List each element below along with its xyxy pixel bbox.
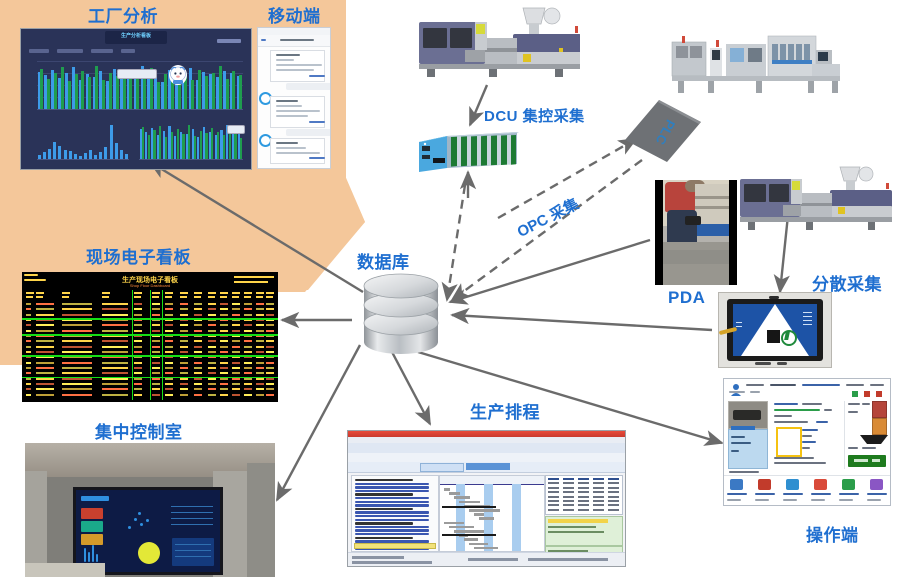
assembly-line-machine — [668, 30, 842, 98]
kanban-cell — [134, 372, 142, 374]
sched-combo-1[interactable] — [420, 463, 464, 472]
bar-实际-29 — [232, 71, 235, 109]
sched-grid-cell — [593, 509, 604, 511]
opterm-logo-icon — [729, 383, 743, 397]
sched-grid-cell — [563, 491, 574, 493]
mobile-client-screenshot[interactable] — [257, 27, 331, 169]
kanban-cell — [102, 383, 128, 385]
sched-selected-row[interactable] — [354, 543, 436, 549]
kanban-col-header — [244, 296, 251, 298]
kanban-col-header — [165, 296, 172, 298]
dcu-device-photo — [413, 128, 525, 176]
dashboard-menu-4[interactable] — [121, 49, 135, 53]
kanban-cell — [62, 362, 92, 364]
sched-gantt-bar[interactable] — [454, 496, 470, 499]
kanban-cell — [208, 308, 216, 310]
kanban-cell — [208, 346, 216, 348]
message-card-1[interactable] — [270, 50, 325, 82]
kanban-cell — [180, 372, 188, 374]
kanban-cell — [256, 340, 264, 342]
kanban-cell — [152, 394, 160, 396]
kanban-cell — [36, 351, 54, 353]
kanban-cell — [152, 388, 160, 390]
kanban-col-header — [208, 296, 215, 298]
kanban-cell — [102, 351, 128, 353]
kanban-cell — [220, 330, 228, 332]
kanban-grid-vline — [132, 290, 133, 400]
sched-task-row[interactable] — [355, 483, 429, 485]
kanban-cell — [165, 314, 173, 316]
sched-grid-cell — [593, 500, 604, 502]
kanban-cell — [26, 383, 31, 385]
kanban-cell — [26, 324, 31, 326]
kanban-cell — [26, 330, 31, 332]
sub-bar-r-10-实际 — [200, 131, 202, 159]
sched-grid-cell — [578, 478, 589, 480]
kanban-subtitle: Shop Floor Dashboard — [130, 283, 170, 288]
sched-grid-cell — [593, 491, 604, 493]
injection-molding-machine-top — [405, 4, 580, 86]
kanban-cell — [152, 314, 160, 316]
kanban-cell — [232, 324, 240, 326]
kanban-cell — [152, 330, 160, 332]
sched-task-row[interactable] — [355, 508, 413, 510]
kanban-col-header — [152, 296, 159, 298]
phone-nav-title — [280, 39, 314, 41]
kanban-cell — [102, 303, 128, 305]
sub-bar-k — [89, 150, 92, 159]
sched-grid-cell — [593, 504, 604, 506]
sched-grid-cell — [578, 491, 589, 493]
kanban-grid-vline — [162, 290, 163, 400]
sched-task-row[interactable] — [355, 501, 429, 503]
kanban-cell — [152, 372, 160, 374]
kanban-col-header — [26, 296, 33, 298]
kanban-cell — [36, 303, 54, 305]
kanban-cell — [134, 351, 142, 353]
kanban-cell — [244, 324, 252, 326]
kanban-cell — [266, 367, 274, 369]
kanban-cell — [62, 394, 92, 396]
kanban-cell — [165, 330, 173, 332]
kanban-cell — [244, 372, 252, 374]
kanban-cell — [208, 388, 216, 390]
sched-gantt-bar[interactable] — [474, 513, 484, 516]
kanban-cell — [165, 367, 173, 369]
sched-status-bar — [348, 552, 625, 566]
sched-task-row[interactable] — [355, 479, 413, 481]
kanban-cell — [220, 383, 228, 385]
kanban-cell — [36, 314, 54, 316]
kanban-cell — [220, 303, 228, 305]
kanban-cell — [194, 324, 202, 326]
kanban-corner-text — [24, 274, 38, 276]
kanban-col-header — [266, 292, 274, 294]
kanban-cell — [36, 340, 54, 342]
label-operation-terminal: 操作端 — [806, 521, 859, 546]
kanban-cell — [266, 394, 274, 396]
sub-bar-b — [43, 152, 46, 159]
sched-grid-cell — [563, 478, 574, 480]
kanban-col-header — [36, 292, 44, 294]
sched-task-row[interactable] — [355, 522, 413, 524]
sched-task-row[interactable] — [355, 504, 429, 506]
kanban-cell — [180, 388, 188, 390]
dashboard-menu-1[interactable] — [29, 49, 49, 53]
sched-task-row[interactable] — [355, 486, 429, 488]
bar-实际-3 — [54, 73, 57, 109]
bar-实际-2 — [47, 79, 50, 109]
phone-nav-bar — [258, 35, 330, 47]
database-cylinder-icon[interactable] — [358, 272, 444, 356]
kanban-cell — [194, 340, 202, 342]
sched-gantt-band — [512, 484, 521, 551]
kanban-cell — [165, 346, 173, 348]
kanban-cell — [102, 308, 128, 310]
dashboard-menu-2[interactable] — [57, 49, 83, 53]
sub-bar-n — [104, 147, 107, 159]
sched-task-row[interactable] — [355, 537, 413, 539]
opterm-detail-panel — [772, 401, 845, 469]
kanban-cell — [62, 314, 92, 316]
kanban-grid-hline — [22, 334, 278, 336]
kanban-cell — [180, 394, 188, 396]
sub-bar-r-1-实际 — [148, 135, 150, 159]
kanban-cell — [194, 388, 202, 390]
kanban-cell — [62, 388, 92, 390]
sched-task-list[interactable] — [351, 475, 439, 552]
kanban-cell — [26, 308, 31, 310]
sched-task-row[interactable] — [355, 497, 429, 499]
sched-detail-grid[interactable] — [545, 475, 623, 515]
sub-bar-q — [120, 150, 123, 159]
dashboard-sub-chart-left — [37, 121, 129, 159]
bar-实际-10 — [102, 80, 105, 109]
kanban-col-header — [165, 292, 173, 294]
factory-analysis-dashboard[interactable]: 生产分析看板 — [20, 28, 252, 170]
dashboard-user[interactable] — [217, 39, 241, 43]
sched-gantt-bar[interactable] — [454, 530, 484, 533]
kanban-cell — [208, 303, 216, 305]
sched-gantt-bar[interactable] — [459, 501, 480, 504]
sched-grid-cell — [548, 504, 559, 506]
sched-grid-cell — [563, 509, 574, 511]
kanban-cell — [134, 303, 142, 305]
kanban-cell — [36, 346, 54, 348]
kanban-cell — [256, 314, 264, 316]
kanban-cell — [244, 394, 252, 396]
kanban-cell — [232, 314, 240, 316]
opterm-bottom-toolbar[interactable] — [724, 475, 890, 506]
system-message-1 — [286, 83, 331, 90]
bar-实际-23 — [191, 80, 194, 109]
kanban-cell — [266, 383, 274, 385]
kanban-corner-text — [234, 276, 274, 278]
sched-grid-cell — [608, 496, 619, 498]
kanban-cell — [244, 388, 252, 390]
kanban-cell — [232, 340, 240, 342]
kanban-cell — [102, 330, 128, 332]
kanban-cell — [36, 324, 54, 326]
sub-bar-e — [58, 146, 61, 159]
kanban-cell — [220, 340, 228, 342]
kanban-col-header — [256, 296, 263, 298]
sub-bar-r-2-实际 — [153, 130, 155, 159]
kanban-cell — [102, 362, 128, 364]
sched-task-row[interactable] — [355, 493, 413, 495]
opterm-part-image — [728, 401, 768, 429]
dashboard-tooltip — [117, 69, 157, 79]
kanban-cell — [180, 303, 188, 305]
kanban-cell — [194, 372, 202, 374]
kanban-cell — [244, 340, 252, 342]
kanban-grid-vline — [150, 290, 151, 400]
opterm-info-panel — [728, 429, 768, 469]
tablet-device-photo — [718, 292, 832, 368]
message-card-3[interactable] — [270, 138, 325, 164]
kanban-cell — [102, 314, 128, 316]
kanban-cell — [244, 314, 252, 316]
kanban-col-header — [180, 296, 187, 298]
kanban-cell — [26, 340, 31, 342]
bar-实际-1 — [40, 69, 43, 109]
sched-gantt-bar[interactable] — [444, 522, 464, 525]
sched-task-row[interactable] — [355, 515, 429, 517]
kanban-cell — [256, 308, 264, 310]
kanban-cell — [62, 372, 92, 374]
kanban-cell — [134, 394, 142, 396]
sched-grid-cell — [578, 504, 589, 506]
bar-实际-19 — [164, 74, 167, 109]
kanban-col-header — [194, 296, 201, 298]
bar-实际-30 — [239, 75, 242, 109]
system-message-2 — [286, 129, 331, 136]
sched-gantt-bar[interactable] — [464, 538, 478, 541]
sub-bar-d — [53, 142, 56, 159]
phone-status-bar — [258, 28, 330, 35]
sched-grid-cell — [608, 478, 619, 480]
kanban-col-header — [102, 292, 110, 294]
production-scheduling-screenshot[interactable] — [347, 430, 626, 567]
kanban-cell — [208, 330, 216, 332]
bar-实际-4 — [61, 67, 64, 109]
sched-grid-cell — [608, 500, 619, 502]
label-control-room: 集中控制室 — [95, 418, 183, 443]
kanban-cell — [194, 394, 202, 396]
opterm-operator-panel — [848, 401, 886, 469]
kanban-cell — [102, 372, 128, 374]
kanban-cell — [194, 308, 202, 310]
sub-bar-r-12-实际 — [211, 128, 213, 159]
kanban-cell — [180, 314, 188, 316]
sched-task-row[interactable] — [355, 519, 429, 521]
kanban-col-header — [102, 296, 109, 298]
kanban-cell — [36, 367, 54, 369]
sched-grid-cell — [563, 496, 574, 498]
kanban-cell — [256, 367, 264, 369]
sched-grid-cell — [593, 487, 604, 489]
kanban-cell — [26, 372, 31, 374]
kanban-cell — [220, 346, 228, 348]
sched-grid-cell — [548, 482, 559, 484]
sched-task-row[interactable] — [355, 511, 429, 513]
sched-grid-cell — [578, 496, 589, 498]
kanban-cell — [220, 314, 228, 316]
sub-bar-f — [64, 150, 67, 160]
kanban-cell — [256, 351, 264, 353]
kanban-cell — [152, 340, 160, 342]
sched-gantt-chart[interactable] — [439, 475, 545, 552]
kanban-cell — [26, 351, 31, 353]
sched-gantt-bar[interactable] — [474, 547, 498, 550]
pda-usage-photo — [655, 180, 737, 285]
sub-bar-g — [69, 151, 72, 159]
kanban-cell — [62, 351, 92, 353]
kanban-cell — [36, 383, 54, 385]
label-field-kanban: 现场电子看板 — [86, 243, 191, 268]
kanban-cell — [62, 340, 92, 342]
kanban-cell — [256, 394, 264, 396]
sched-grid-cell — [563, 482, 574, 484]
sched-gantt-bar[interactable] — [469, 543, 488, 546]
phone-back-icon[interactable] — [261, 39, 266, 41]
sched-task-row[interactable] — [355, 533, 429, 535]
kanban-cell — [194, 303, 202, 305]
control-room-photo — [25, 443, 275, 577]
kanban-cell — [165, 362, 173, 364]
kanban-cell — [220, 394, 228, 396]
label-mobile-client: 移动端 — [268, 2, 321, 27]
sched-grid-cell — [578, 482, 589, 484]
sched-task-row[interactable] — [355, 490, 429, 492]
kanban-cell — [180, 340, 188, 342]
sched-grid-cell — [593, 478, 604, 480]
kanban-cell — [26, 388, 31, 390]
dashboard-menu-3[interactable] — [91, 49, 113, 53]
kanban-cell — [152, 367, 160, 369]
kanban-cell — [256, 303, 264, 305]
sched-gantt-bar[interactable] — [469, 509, 500, 512]
field-kanban-screenshot[interactable]: 生产现场电子看板Shop Floor Dashboard — [22, 272, 278, 402]
bar-实际-28 — [226, 79, 229, 109]
kanban-cell — [180, 351, 188, 353]
sched-milestone-line — [442, 534, 496, 536]
kanban-cell — [244, 346, 252, 348]
sched-grid-cell — [593, 482, 604, 484]
kanban-cell — [165, 303, 173, 305]
sub-bar-r-5-实际 — [171, 132, 173, 159]
sub-bar-r-6-实际 — [177, 129, 179, 159]
kanban-cell — [36, 388, 54, 390]
kanban-cell — [180, 346, 188, 348]
kanban-cell — [266, 340, 274, 342]
injection-molding-machine-right — [728, 165, 892, 235]
kanban-cell — [26, 362, 31, 364]
kanban-cell — [266, 351, 274, 353]
kanban-cell — [26, 314, 31, 316]
kanban-cell — [266, 330, 274, 332]
kanban-cell — [36, 308, 54, 310]
sched-grid-cell — [578, 487, 589, 489]
message-card-2[interactable] — [270, 96, 325, 128]
sched-task-row[interactable] — [355, 526, 429, 528]
kanban-cell — [134, 330, 142, 332]
bar-实际-25 — [205, 76, 208, 109]
kanban-cell — [208, 362, 216, 364]
kanban-cell — [165, 340, 173, 342]
sched-combo-2[interactable] — [466, 463, 510, 470]
kanban-col-header — [152, 292, 160, 294]
label-production-scheduling: 生产排程 — [470, 398, 540, 423]
kanban-cell — [152, 351, 160, 353]
kanban-cell — [134, 367, 142, 369]
sub-bar-r-4-实际 — [165, 137, 167, 159]
kanban-cell — [165, 351, 173, 353]
kanban-cell — [134, 324, 142, 326]
sub-bar-r-7-实际 — [182, 134, 184, 159]
control-room-display — [73, 487, 223, 575]
kanban-cell — [208, 351, 216, 353]
kanban-cell — [134, 340, 142, 342]
kanban-cell — [232, 362, 240, 364]
kanban-cell — [102, 340, 128, 342]
kanban-cell — [208, 314, 216, 316]
kanban-cell — [256, 362, 264, 364]
kanban-cell — [134, 308, 142, 310]
kanban-cell — [26, 394, 31, 396]
kanban-cell — [62, 383, 92, 385]
sched-gantt-bar[interactable] — [449, 492, 460, 495]
kanban-cell — [62, 367, 92, 369]
kanban-cell — [194, 330, 202, 332]
sched-gantt-bar[interactable] — [444, 488, 450, 491]
kanban-cell — [208, 383, 216, 385]
kanban-cell — [165, 308, 173, 310]
operation-terminal-screenshot[interactable] — [723, 378, 891, 506]
bar-实际-11 — [109, 73, 112, 109]
kanban-cell — [134, 362, 142, 364]
sched-gantt-bar[interactable] — [479, 517, 494, 520]
kanban-cell — [194, 314, 202, 316]
kanban-col-header — [256, 292, 264, 294]
bar-实际-5 — [68, 81, 71, 109]
bar-实际-18 — [157, 82, 160, 109]
sched-grid-cell — [548, 509, 559, 511]
kanban-cell — [62, 324, 92, 326]
kanban-cell — [220, 372, 228, 374]
kanban-cell — [266, 324, 274, 326]
kanban-cell — [152, 346, 160, 348]
kanban-cell — [165, 388, 173, 390]
sched-grid-cell — [593, 496, 604, 498]
kanban-cell — [208, 367, 216, 369]
kanban-cell — [180, 362, 188, 364]
kanban-cell — [62, 308, 92, 310]
bar-实际-14 — [129, 75, 132, 109]
kanban-cell — [232, 351, 240, 353]
sub-bar-r-8-实际 — [188, 125, 190, 159]
kanban-cell — [165, 372, 173, 374]
label-pda: PDA — [668, 288, 705, 308]
kanban-cell — [232, 330, 240, 332]
sched-info-pane-1 — [545, 516, 623, 546]
sched-task-row[interactable] — [355, 529, 429, 531]
kanban-cell — [102, 388, 128, 390]
kanban-cell — [220, 388, 228, 390]
kanban-grid-hline — [22, 377, 278, 379]
sched-gantt-bar[interactable] — [449, 526, 474, 529]
diagram-canvas: 工厂分析 生产分析看板 — [0, 0, 900, 577]
